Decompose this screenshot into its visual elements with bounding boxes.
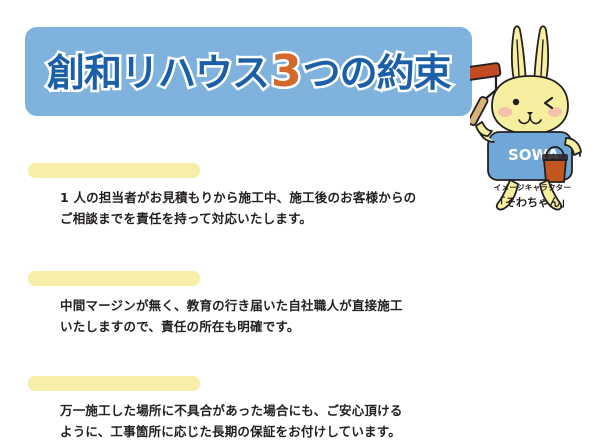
mascot-caption-role: イメージキャラクター [470,182,595,194]
promise-separator-2: . [54,251,64,285]
promise-heading-text-2: 直接施工 [74,251,190,285]
banner-title-suffix: つの約束 [303,51,451,95]
promise-heading-text-1: 地域密着 [74,143,190,177]
banner-title: 創和リハウス3つの約束 [47,50,451,94]
mascot-head [492,76,568,134]
promise-separator-3: . [54,356,64,390]
promise-number-1: 1 [34,143,54,177]
banner-title-number: 3 [269,46,303,97]
header-banner: 創和リハウス3つの約束 [25,27,472,116]
promise-heading-1: 1. 地域密着 [28,140,200,180]
promise-number-2: 2 [34,251,54,285]
mascot-cheek-left [498,107,512,117]
promise-item-2: 2. 直接施工 中間マージンが無く、教育の行き届いた自社職人が直接施工 いたしま… [28,248,468,337]
promise-heading-text-3: 安心保証 [74,356,190,390]
promise-heading-2: 2. 直接施工 [28,248,200,288]
promise-number-3: 3 [34,356,54,390]
banner-title-prefix: 創和リハウス [47,51,269,95]
promise-body-1: 1 人の担当者がお見積もりから施工中、施工後のお客様からの ご相談までを責任を持… [60,187,468,229]
promise-body-3: 万一施工した場所に不具合があった場合にも、ご安心頂ける ように、工事箇所に応じた… [60,400,468,442]
mascot-caption-name: 「そわちゃん」 [470,195,595,210]
mascot-eye-left [513,99,519,105]
promise-item-1: 1. 地域密着 1 人の担当者がお見積もりから施工中、施工後のお客様からの ご相… [28,140,468,229]
promise-item-3: 3. 安心保証 万一施工した場所に不具合があった場合にも、ご安心頂ける ように、… [28,353,468,442]
mascot-caption: イメージキャラクター 「そわちゃん」 [470,182,595,210]
promise-separator-1: . [54,143,64,177]
promise-heading-3: 3. 安心保証 [28,353,200,393]
promise-body-2: 中間マージンが無く、教育の行き届いた自社職人が直接施工 いたしますので、責任の所… [60,295,468,337]
mascot-cheek-right [548,107,562,117]
